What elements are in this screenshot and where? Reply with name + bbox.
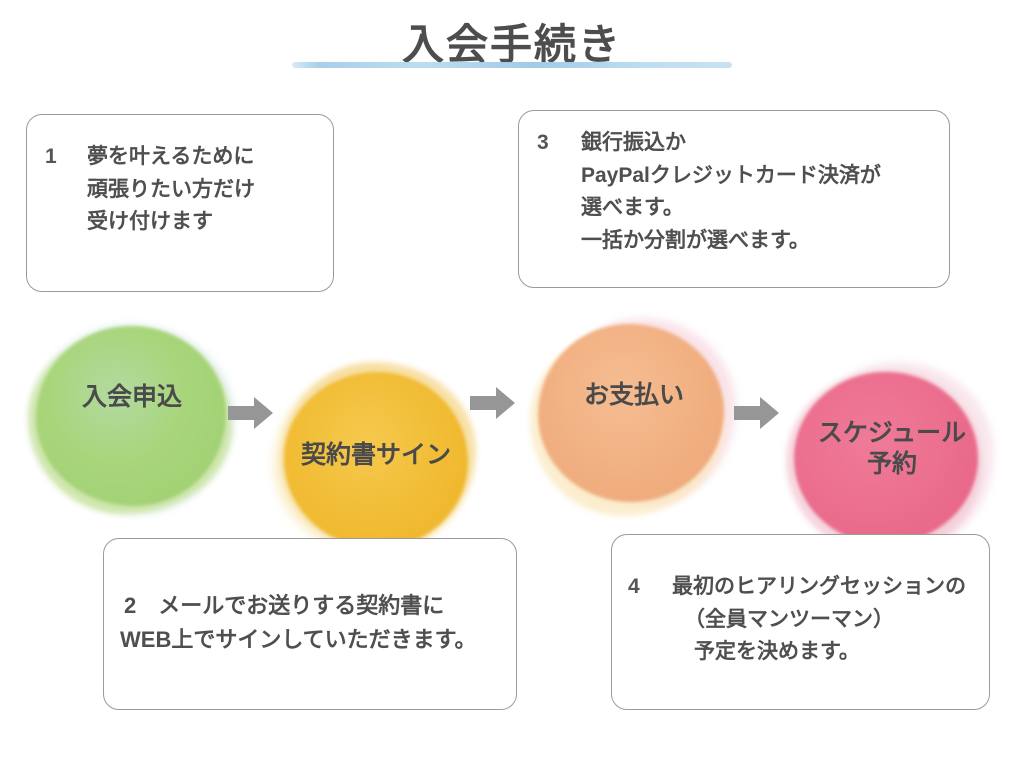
note-1-number: 1 xyxy=(45,141,87,174)
step-1-label-line-1: 入会申込 xyxy=(26,382,238,413)
note-2-line-1: 2 メールでお送りする契約書に xyxy=(120,589,502,623)
note-1-line-1: 夢を叶えるために xyxy=(87,141,315,174)
note-4-line-2: （全員マンツーマン） xyxy=(672,604,981,637)
note-3-line-2: PayPalクレジットカード決済が xyxy=(581,160,933,193)
step-4-label-line-2: 予約 xyxy=(786,449,998,480)
watercolor-layer-front xyxy=(538,324,724,502)
arrow-right-icon xyxy=(470,386,516,425)
step-circle-contract-sign: 契約書サイン xyxy=(272,362,480,558)
note-3-line-3: 選べます。 xyxy=(581,192,933,225)
step-2-label-line-1: 契約書サイン xyxy=(272,440,480,471)
step-4-label: スケジュール 予約 xyxy=(786,418,998,479)
note-4-line-3: 予定を決めます。 xyxy=(672,636,981,669)
note-box-1: 1 夢を叶えるために 頑張りたい方だけ 受け付けます xyxy=(26,114,334,292)
step-circle-schedule-booking: スケジュール 予約 xyxy=(786,362,998,560)
note-1-text: 夢を叶えるために 頑張りたい方だけ 受け付けます xyxy=(87,141,315,239)
step-4-label-line-1: スケジュール xyxy=(786,418,998,449)
note-3-line-1: 銀行振込か xyxy=(581,127,933,160)
note-4-line-1: 最初のヒアリングセッションの xyxy=(672,571,981,604)
note-2-line-2: WEB上でサインしていただきます。 xyxy=(120,623,502,657)
step-1-label: 入会申込 xyxy=(26,382,238,413)
note-4-number: 4 xyxy=(628,571,672,604)
note-box-4: 4 最初のヒアリングセッションの （全員マンツーマン） 予定を決めます。 xyxy=(611,534,990,710)
watercolor-layer-front xyxy=(36,326,226,506)
arrow-right-icon xyxy=(228,396,274,435)
note-box-3: 3 銀行振込か PayPalクレジットカード決済が 選べます。 一括か分割が選べ… xyxy=(518,110,950,288)
note-1-line-2: 頑張りたい方だけ xyxy=(87,174,315,207)
title-underline xyxy=(292,62,732,68)
step-2-label: 契約書サイン xyxy=(272,440,480,471)
step-circle-entry-application: 入会申込 xyxy=(26,320,238,516)
note-1-line-3: 受け付けます xyxy=(87,206,315,239)
step-3-label-line-1: お支払い xyxy=(530,380,738,411)
note-4-text: 最初のヒアリングセッションの （全員マンツーマン） 予定を決めます。 xyxy=(672,571,981,669)
note-3-line-4: 一括か分割が選べます。 xyxy=(581,225,933,258)
note-3-text: 銀行振込か PayPalクレジットカード決済が 選べます。 一括か分割が選べます… xyxy=(581,127,933,257)
arrow-right-icon xyxy=(734,396,780,435)
step-3-label: お支払い xyxy=(530,380,738,411)
note-box-2: 2 メールでお送りする契約書に WEB上でサインしていただきます。 xyxy=(103,538,517,710)
note-3-number: 3 xyxy=(537,127,581,160)
step-circle-payment: お支払い xyxy=(530,318,738,518)
